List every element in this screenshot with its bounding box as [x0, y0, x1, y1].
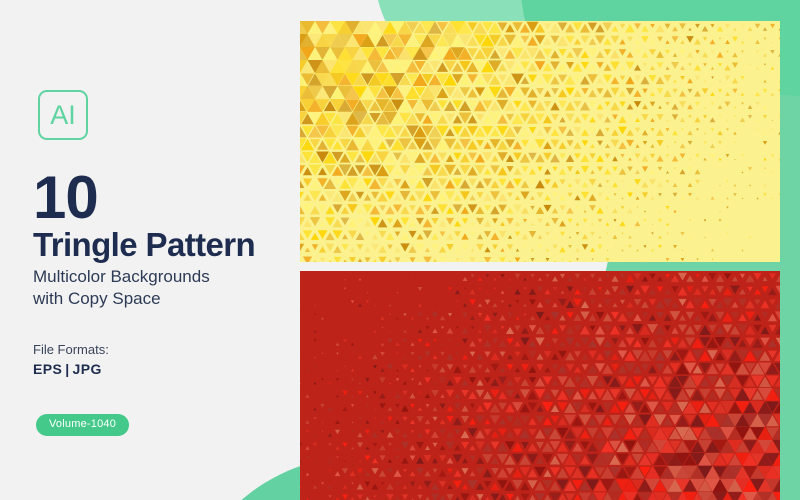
subtitle-line-1: Multicolor Backgrounds: [33, 266, 210, 288]
yellow-triangle-artwork: [300, 21, 780, 262]
preview-panel-yellow[interactable]: [300, 21, 780, 262]
format-eps: EPS: [33, 361, 62, 377]
info-column: AI 10 Tringle Pattern Multicolor Backgro…: [0, 0, 300, 500]
format-jpg: JPG: [73, 361, 102, 377]
format-separator: |: [62, 361, 72, 377]
volume-badge: Volume-1040: [36, 414, 129, 436]
file-formats-label: File Formats:: [33, 343, 109, 356]
red-triangle-artwork: [300, 271, 780, 500]
subtitle-line-2: with Copy Space: [33, 288, 210, 310]
ai-badge-label: AI: [50, 102, 76, 129]
item-count: 10: [33, 168, 98, 228]
page-subtitle: Multicolor Backgrounds with Copy Space: [33, 266, 210, 311]
preview-panel-red[interactable]: [300, 271, 780, 500]
adobe-illustrator-badge: AI: [38, 90, 88, 140]
poster-canvas: AI 10 Tringle Pattern Multicolor Backgro…: [0, 0, 800, 500]
page-title: Tringle Pattern: [33, 228, 255, 261]
file-formats-value: EPS|JPG: [33, 362, 102, 376]
